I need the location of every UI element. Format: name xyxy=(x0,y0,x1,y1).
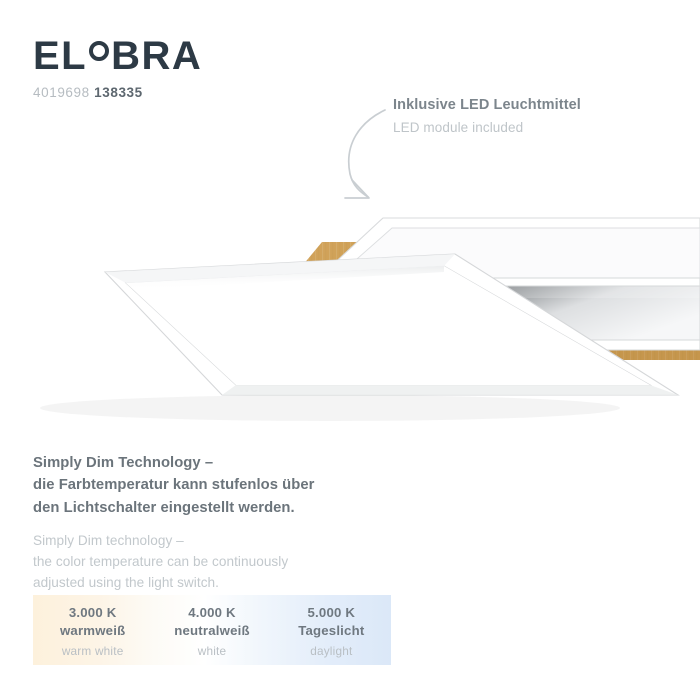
description-de-line-1: Simply Dim Technology – xyxy=(33,452,453,474)
temperature-kelvin: 4.000 K xyxy=(188,604,236,622)
temperature-name-en: white xyxy=(198,644,227,658)
description-block: Simply Dim Technology – die Farbtemperat… xyxy=(33,452,453,593)
temperature-name-de: warmweiß xyxy=(60,622,125,640)
brand-header: EL BRA 4019698 138335 xyxy=(33,36,313,100)
temperature-cell-daylight: 5.000 K Tageslicht daylight xyxy=(272,595,391,665)
description-de-line-2: die Farbtemperatur kann stufenlos über xyxy=(33,474,453,496)
brand-logo-text-left: EL xyxy=(33,36,87,76)
product-illustration xyxy=(0,180,700,440)
led-included-callout: Inklusive LED Leuchtmittel LED module in… xyxy=(393,96,683,137)
callout-title-de: Inklusive LED Leuchtmittel xyxy=(393,96,683,114)
temperature-name-en: daylight xyxy=(310,644,352,658)
product-image xyxy=(0,180,700,440)
o-ring-logo-mark-icon xyxy=(89,41,109,61)
ean-number: 4019698 xyxy=(33,85,90,100)
temperature-name-de: neutralweiß xyxy=(174,622,249,640)
description-en: Simply Dim technology – the color temper… xyxy=(33,531,453,593)
temperature-cell-warm-white: 3.000 K warmweiß warm white xyxy=(33,595,152,665)
temperature-cell-neutral-white: 4.000 K neutralweiß white xyxy=(152,595,271,665)
temperature-kelvin: 3.000 K xyxy=(69,604,117,622)
description-en-line-2: the color temperature can be continuousl… xyxy=(33,552,453,573)
product-shadow xyxy=(40,395,620,421)
temperature-kelvin: 5.000 K xyxy=(308,604,356,622)
description-en-line-1: Simply Dim technology – xyxy=(33,531,453,552)
description-en-line-3: adjusted using the light switch. xyxy=(33,573,453,594)
article-codes: 4019698 138335 xyxy=(33,86,313,100)
brand-logo-text-right: BRA xyxy=(111,36,202,76)
temperature-name-en: warm white xyxy=(62,644,124,658)
brand-logo: EL BRA xyxy=(33,36,313,76)
temperature-name-de: Tageslicht xyxy=(298,622,364,640)
article-number: 138335 xyxy=(94,85,143,100)
description-de-line-3: den Lichtschalter eingestellt werden. xyxy=(33,497,453,519)
callout-title-en: LED module included xyxy=(393,120,683,137)
color-temperature-bar: 3.000 K warmweiß warm white 4.000 K neut… xyxy=(33,595,391,665)
description-de: Simply Dim Technology – die Farbtemperat… xyxy=(33,452,453,519)
